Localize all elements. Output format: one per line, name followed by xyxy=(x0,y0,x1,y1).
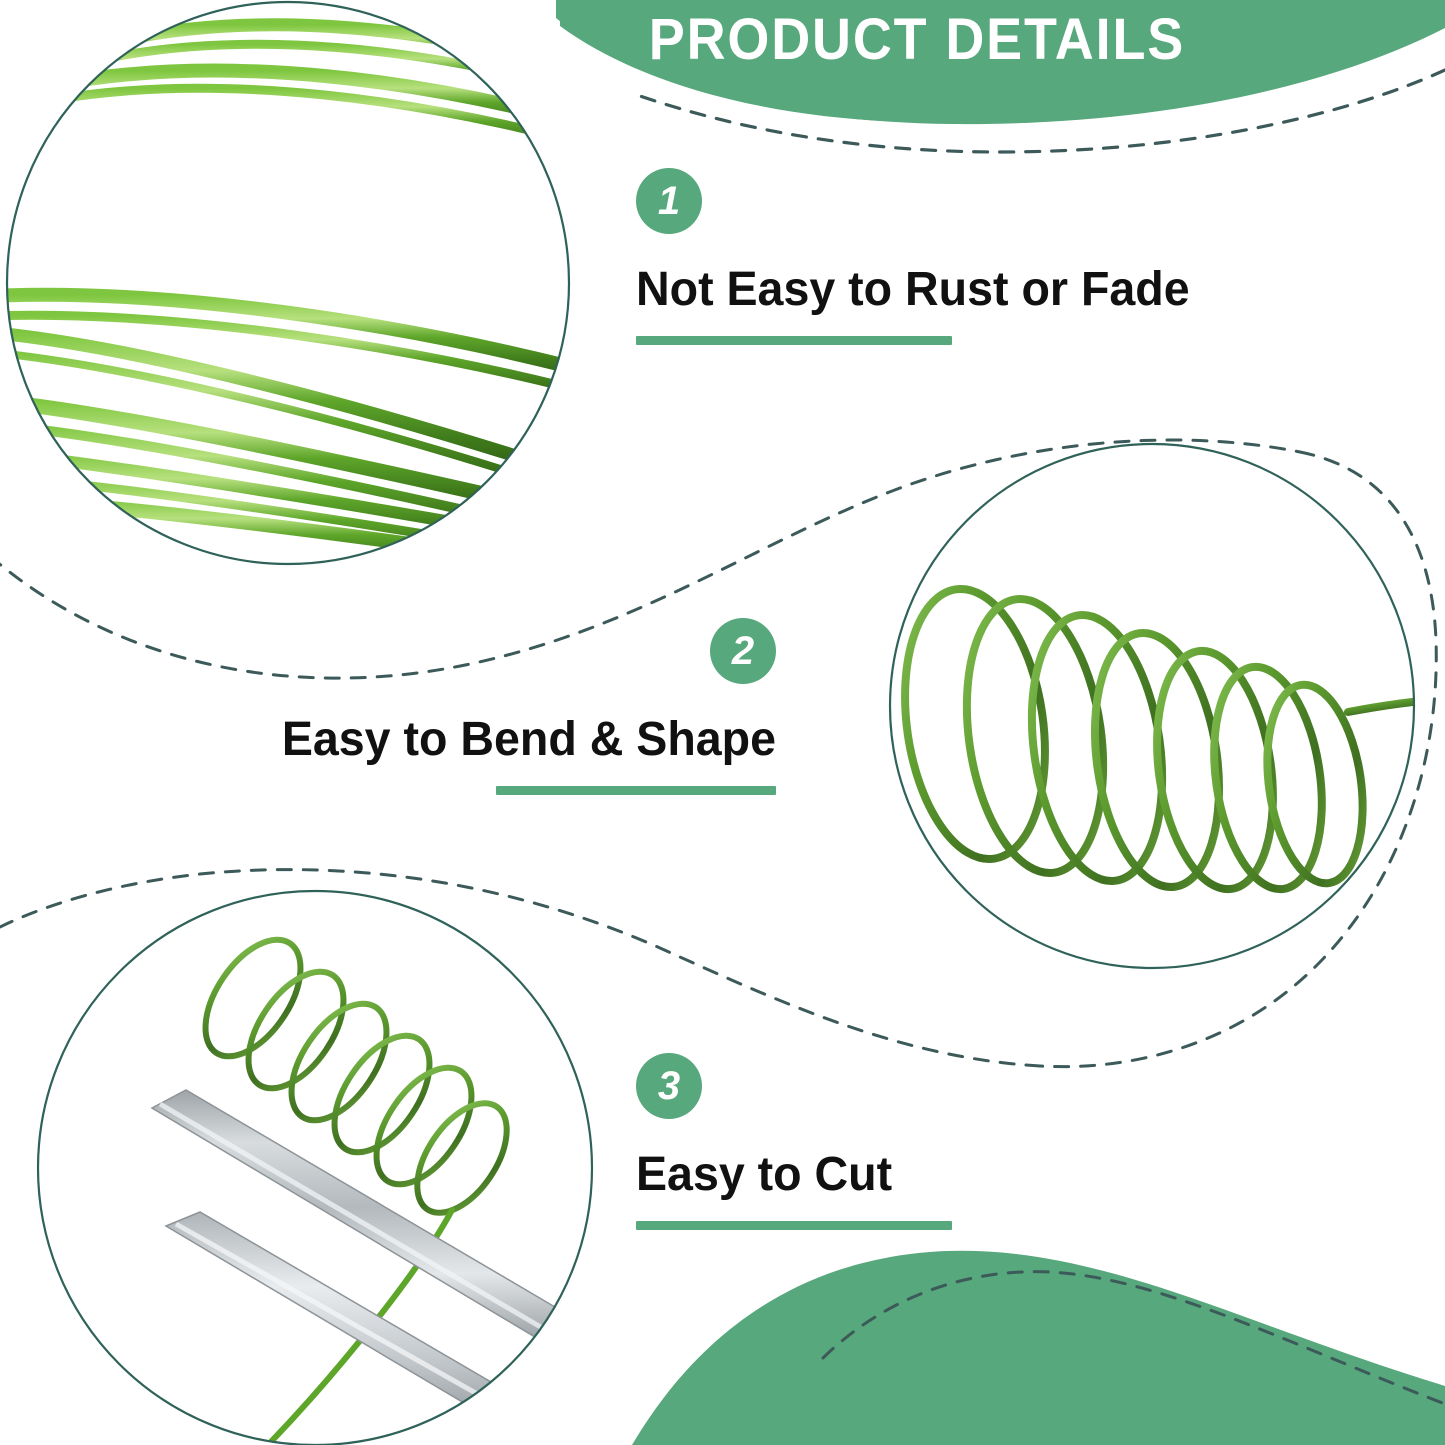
feature-heading-2: Easy to Bend & Shape xyxy=(265,712,776,768)
feature-block-3: 3 Easy to Cut xyxy=(636,1053,952,1230)
feature-block-1: 1 Not Easy to Rust or Fade xyxy=(636,168,1207,345)
feature-badge-1: 1 xyxy=(636,168,702,234)
feature-badge-3: 3 xyxy=(636,1053,702,1119)
text-layer: PRODUCT DETAILS 1 Not Easy to Rust or Fa… xyxy=(0,0,1445,1445)
feature-heading-1: Not Easy to Rust or Fade xyxy=(636,262,1190,318)
feature-underline-3 xyxy=(636,1221,952,1230)
page-title: PRODUCT DETAILS xyxy=(624,8,1210,72)
feature-underline-1 xyxy=(636,336,952,345)
product-details-infographic: PRODUCT DETAILS 1 Not Easy to Rust or Fa… xyxy=(0,0,1445,1445)
feature-heading-3: Easy to Cut xyxy=(636,1147,943,1203)
feature-badge-2: 2 xyxy=(710,618,776,684)
feature-underline-2 xyxy=(496,786,776,795)
feature-block-2: 2 Easy to Bend & Shape xyxy=(249,618,776,795)
